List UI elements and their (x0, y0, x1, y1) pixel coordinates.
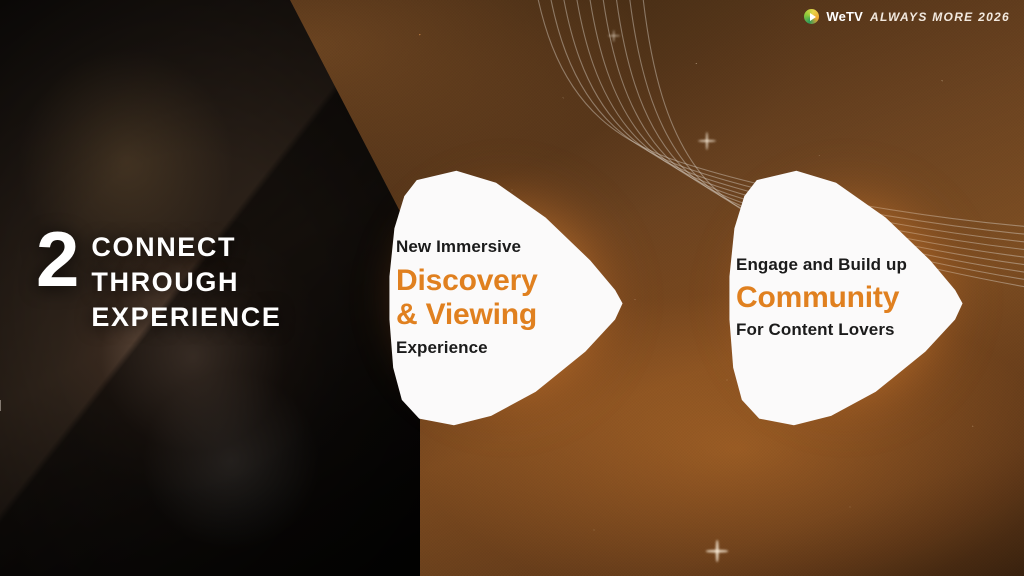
brand-name: WeTV (826, 9, 863, 24)
card-content: Engage and Build up Community For Conten… (722, 164, 970, 432)
feature-card-community[interactable]: Engage and Build up Community For Conten… (722, 164, 970, 432)
card-subtitle-top: New Immersive (396, 237, 612, 258)
card-subtitle-bottom: Experience (396, 338, 612, 359)
card-subtitle-top: Engage and Build up (736, 255, 954, 276)
brand-tagline: ALWAYS MORE 2026 (870, 10, 1010, 24)
sparkle-star (608, 30, 620, 42)
card-subtitle-bottom: For Content Lovers (736, 320, 954, 341)
wetv-play-icon (804, 9, 819, 24)
card-heading-line-2: & Viewing (396, 298, 612, 332)
card-heading-line-1: Community (736, 281, 954, 315)
sparkle-star (706, 540, 728, 562)
slide-title-lines: CONNECT THROUGH EXPERIENCE (91, 224, 281, 335)
slide-title-line-2: THROUGH (91, 265, 281, 300)
slide-title-line-3: EXPERIENCE (91, 300, 281, 335)
brand-lockup: WeTV ALWAYS MORE 2026 (804, 9, 1010, 24)
card-content: New Immersive Discovery & Viewing Experi… (382, 164, 630, 432)
feature-card-discovery-viewing[interactable]: New Immersive Discovery & Viewing Experi… (382, 164, 630, 432)
slide-number: 2 (36, 224, 77, 296)
presentation-slide: sy ut a cold ro.. 2 CONNECT THROUGH EXPE… (0, 0, 1024, 576)
slide-title-block: 2 CONNECT THROUGH EXPERIENCE (36, 224, 281, 335)
card-heading-line-1: Discovery (396, 264, 612, 298)
photo-subtitle-fragment: cold (0, 398, 2, 415)
slide-title-line-1: CONNECT (91, 230, 281, 265)
